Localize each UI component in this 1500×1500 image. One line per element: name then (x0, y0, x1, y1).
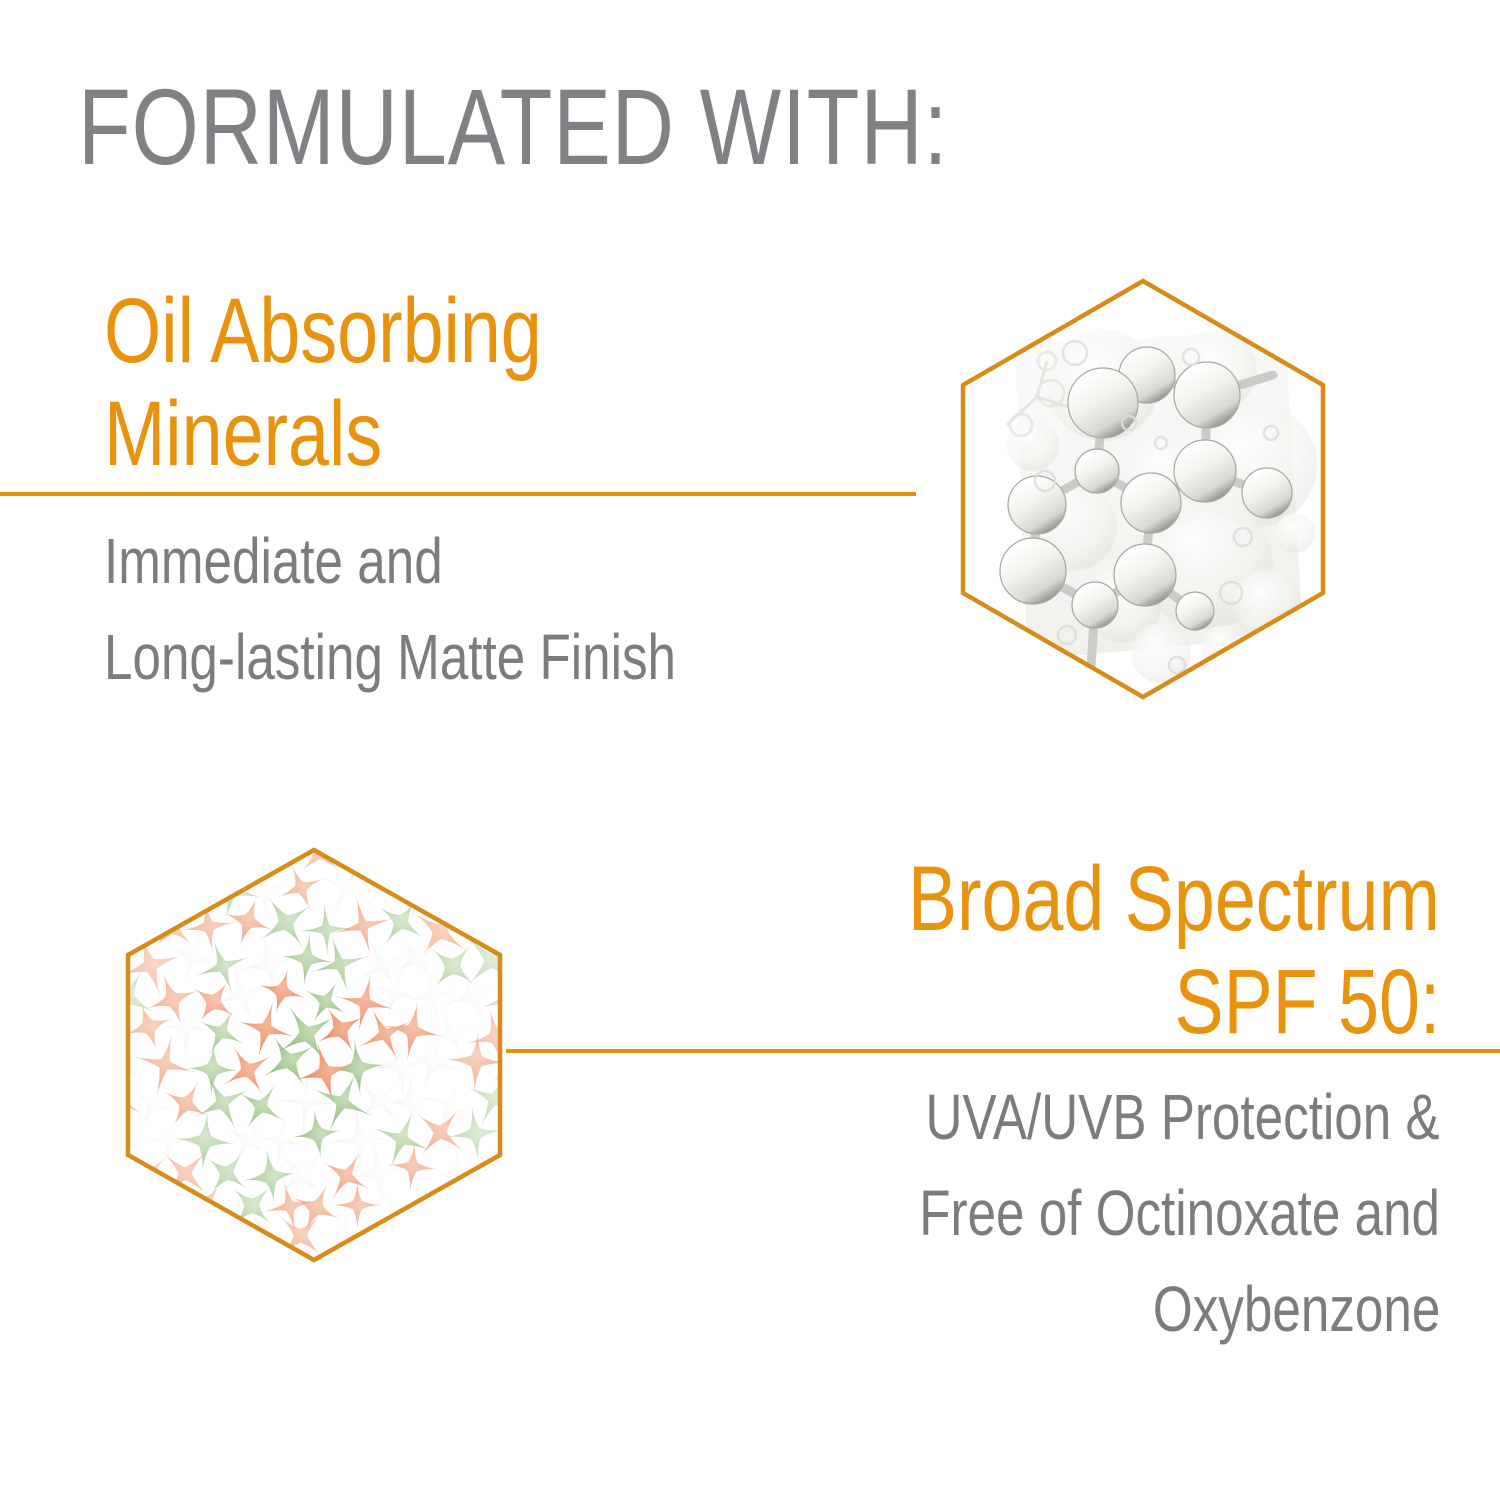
feature-body-broad-spectrum-line2: Free of Octinoxate and (919, 1164, 1440, 1263)
feature-title-broad-spectrum-line2: SPF 50: (1174, 951, 1440, 1054)
infographic-canvas: FORMULATED WITH: Oil Absorbing Minerals … (0, 0, 1500, 1500)
feature-body-broad-spectrum-line3: Oxybenzone (1153, 1260, 1440, 1359)
feature-title-broad-spectrum-line1: Broad Spectrum (908, 848, 1440, 951)
feature-divider-broad-spectrum (506, 1049, 1500, 1053)
mineral-lattice-hexagon-icon (118, 843, 508, 1267)
feature-body-broad-spectrum-line1: UVA/UVB Protection & (926, 1068, 1440, 1167)
molecule-hexagon-icon (955, 275, 1335, 701)
feature-title-oil-absorbing-minerals-line1: Oil Absorbing (104, 280, 542, 383)
page-title: FORMULATED WITH: (78, 72, 948, 182)
feature-title-oil-absorbing-minerals-line2: Minerals (104, 383, 382, 486)
feature-body-oil-absorbing-minerals-line2: Long-lasting Matte Finish (104, 608, 676, 707)
feature-divider-oil-absorbing-minerals (0, 492, 916, 496)
feature-body-oil-absorbing-minerals-line1: Immediate and (104, 512, 443, 611)
